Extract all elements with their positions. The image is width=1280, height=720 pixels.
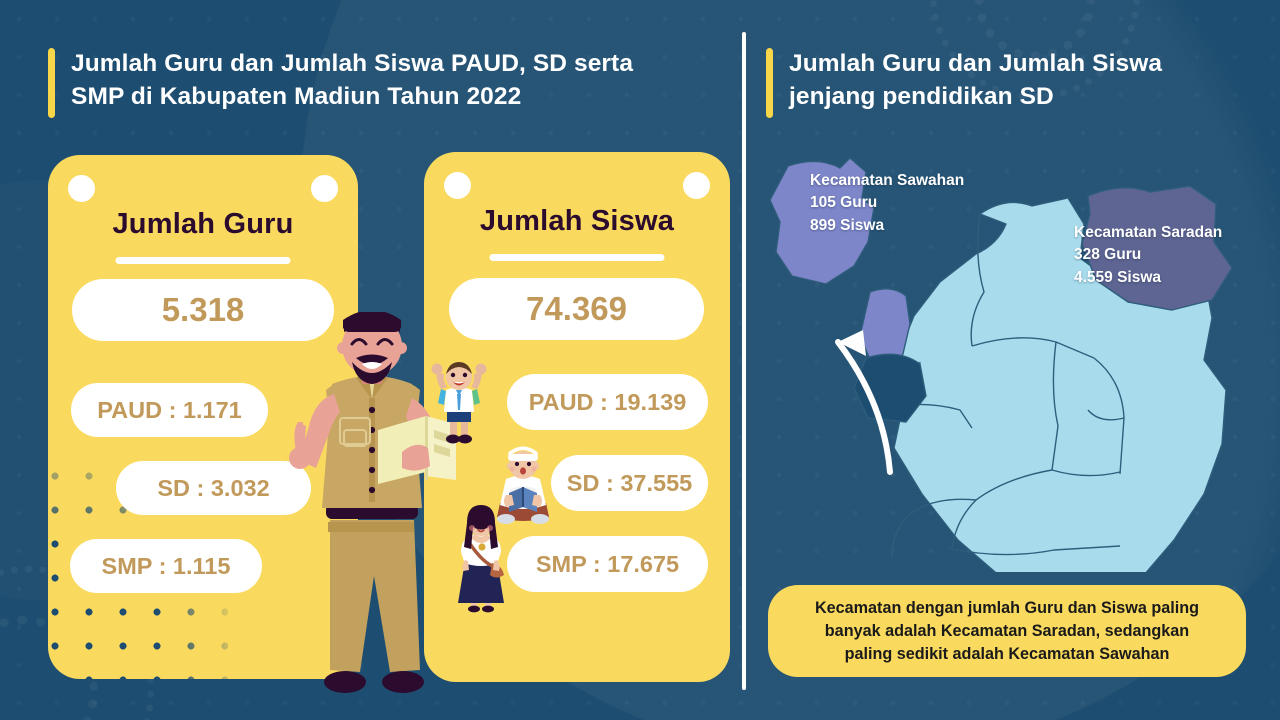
stat-card-siswa-row-paud: PAUD : 19.139 <box>507 374 708 430</box>
stat-card-siswa-row-sd: SD : 37.555 <box>551 455 708 511</box>
map-label-sawahan: Kecamatan Sawahan 105 Guru 899 Siswa <box>810 170 964 237</box>
card-title-underline <box>116 257 291 264</box>
panel-divider <box>742 32 746 690</box>
title-accent-bar <box>766 48 773 118</box>
card-punch-hole-icon <box>683 172 710 199</box>
right-panel-title: Jumlah Guru dan Jumlah Siswa jenjang pen… <box>766 48 1236 118</box>
student-paud-illustration <box>428 360 490 445</box>
stat-card-siswa-total: 74.369 <box>449 278 704 340</box>
right-panel-title-text: Jumlah Guru dan Jumlah Siswa jenjang pen… <box>789 48 1162 113</box>
card-punch-hole-icon <box>68 175 95 202</box>
card-punch-hole-icon <box>311 175 338 202</box>
stat-card-guru-row-paud: PAUD : 1.171 <box>71 383 268 437</box>
title-accent-bar <box>48 48 55 118</box>
left-panel-title-text: Jumlah Guru dan Jumlah Siswa PAUD, SD se… <box>71 48 633 113</box>
left-panel-title: Jumlah Guru dan Jumlah Siswa PAUD, SD se… <box>48 48 708 118</box>
student-smp-illustration <box>452 505 510 613</box>
summary-note: Kecamatan dengan jumlah Guru dan Siswa p… <box>768 585 1246 677</box>
card-title-underline <box>490 254 665 261</box>
stat-card-siswa-title: Jumlah Siswa <box>424 205 730 238</box>
stat-card-guru-row-smp: SMP : 1.115 <box>70 539 262 593</box>
stat-card-siswa-row-smp: SMP : 17.675 <box>507 536 708 592</box>
stat-card-guru-title: Jumlah Guru <box>48 208 358 241</box>
card-punch-hole-icon <box>444 172 471 199</box>
map-label-saradan: Kecamatan Saradan 328 Guru 4.559 Siswa <box>1074 222 1222 289</box>
stat-card-guru-row-sd: SD : 3.032 <box>116 461 311 515</box>
